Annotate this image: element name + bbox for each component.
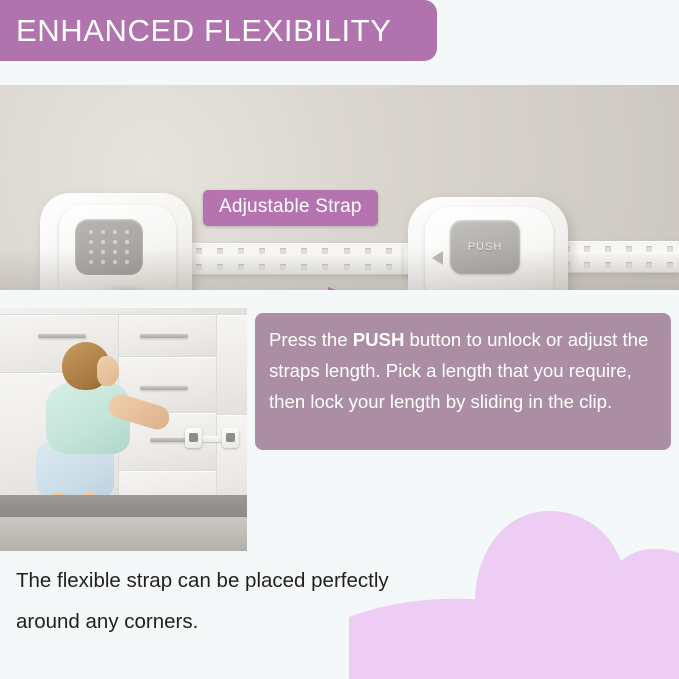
baby-kitchen-photo [0,308,247,551]
header-banner: ENHANCED FLEXIBILITY [0,0,437,61]
drawer-handle [140,386,188,390]
installed-lock-left [185,428,202,448]
instruction-part1: Press the [269,329,353,350]
drawer-handle [140,334,188,338]
bottom-caption-text: The flexible strap can be placed perfect… [16,560,446,642]
baby-face [97,356,119,386]
kitchen-floor [0,517,247,551]
cabinet-panel [216,314,247,416]
infographic-page: ENHANCED FLEXIBILITY [0,0,679,679]
installed-lock-right [222,428,239,448]
bottom-caption: The flexible strap can be placed perfect… [16,560,446,642]
photo-floor-shadow [0,248,679,290]
product-photo-top: PUSH Adjustable Strap [0,85,679,290]
page-title: ENHANCED FLEXIBILITY [16,15,391,46]
instruction-text-box: Press the PUSH button to unlock or adjus… [255,313,671,450]
instruction-text: Press the PUSH button to unlock or adjus… [269,324,657,417]
instruction-bold-push: PUSH [353,329,405,350]
cabinet-kickplate [0,495,247,517]
adjustable-strap-label: Adjustable Strap [203,190,378,226]
adjustable-strap-label-text: Adjustable Strap [219,196,362,217]
drawer-handle [38,334,86,338]
